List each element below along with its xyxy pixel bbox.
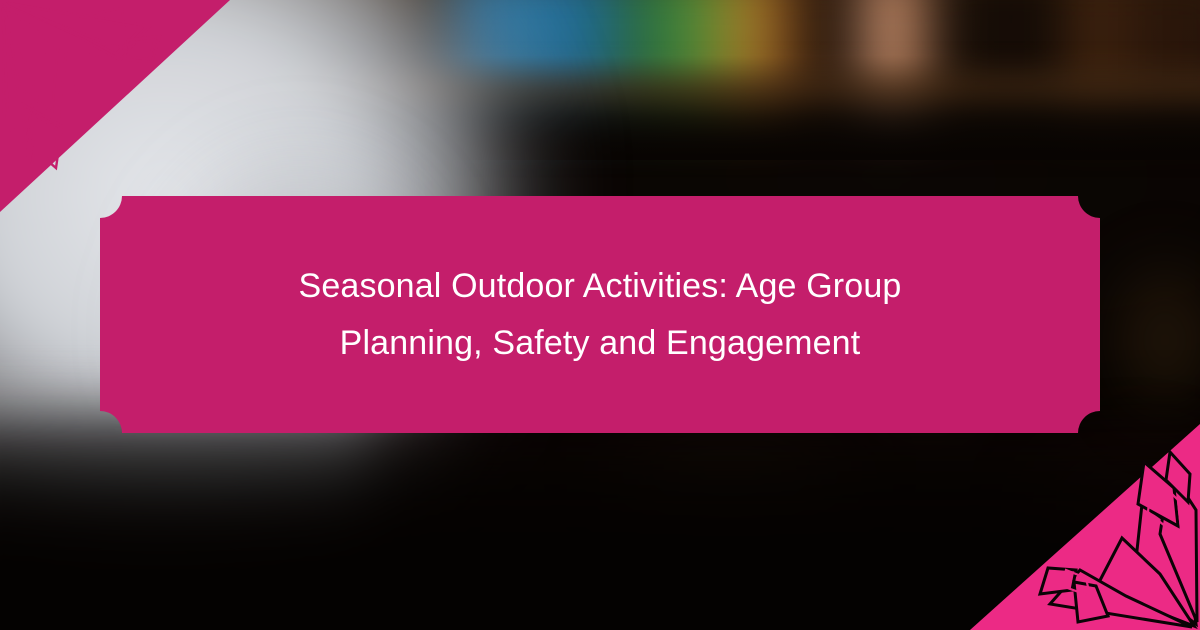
title-banner: Seasonal Outdoor Activities: Age Group P…: [100, 196, 1100, 433]
background-floor: [0, 410, 1200, 630]
share-card: Seasonal Outdoor Activities: Age Group P…: [0, 0, 1200, 630]
page-title: Seasonal Outdoor Activities: Age Group P…: [100, 196, 1100, 433]
